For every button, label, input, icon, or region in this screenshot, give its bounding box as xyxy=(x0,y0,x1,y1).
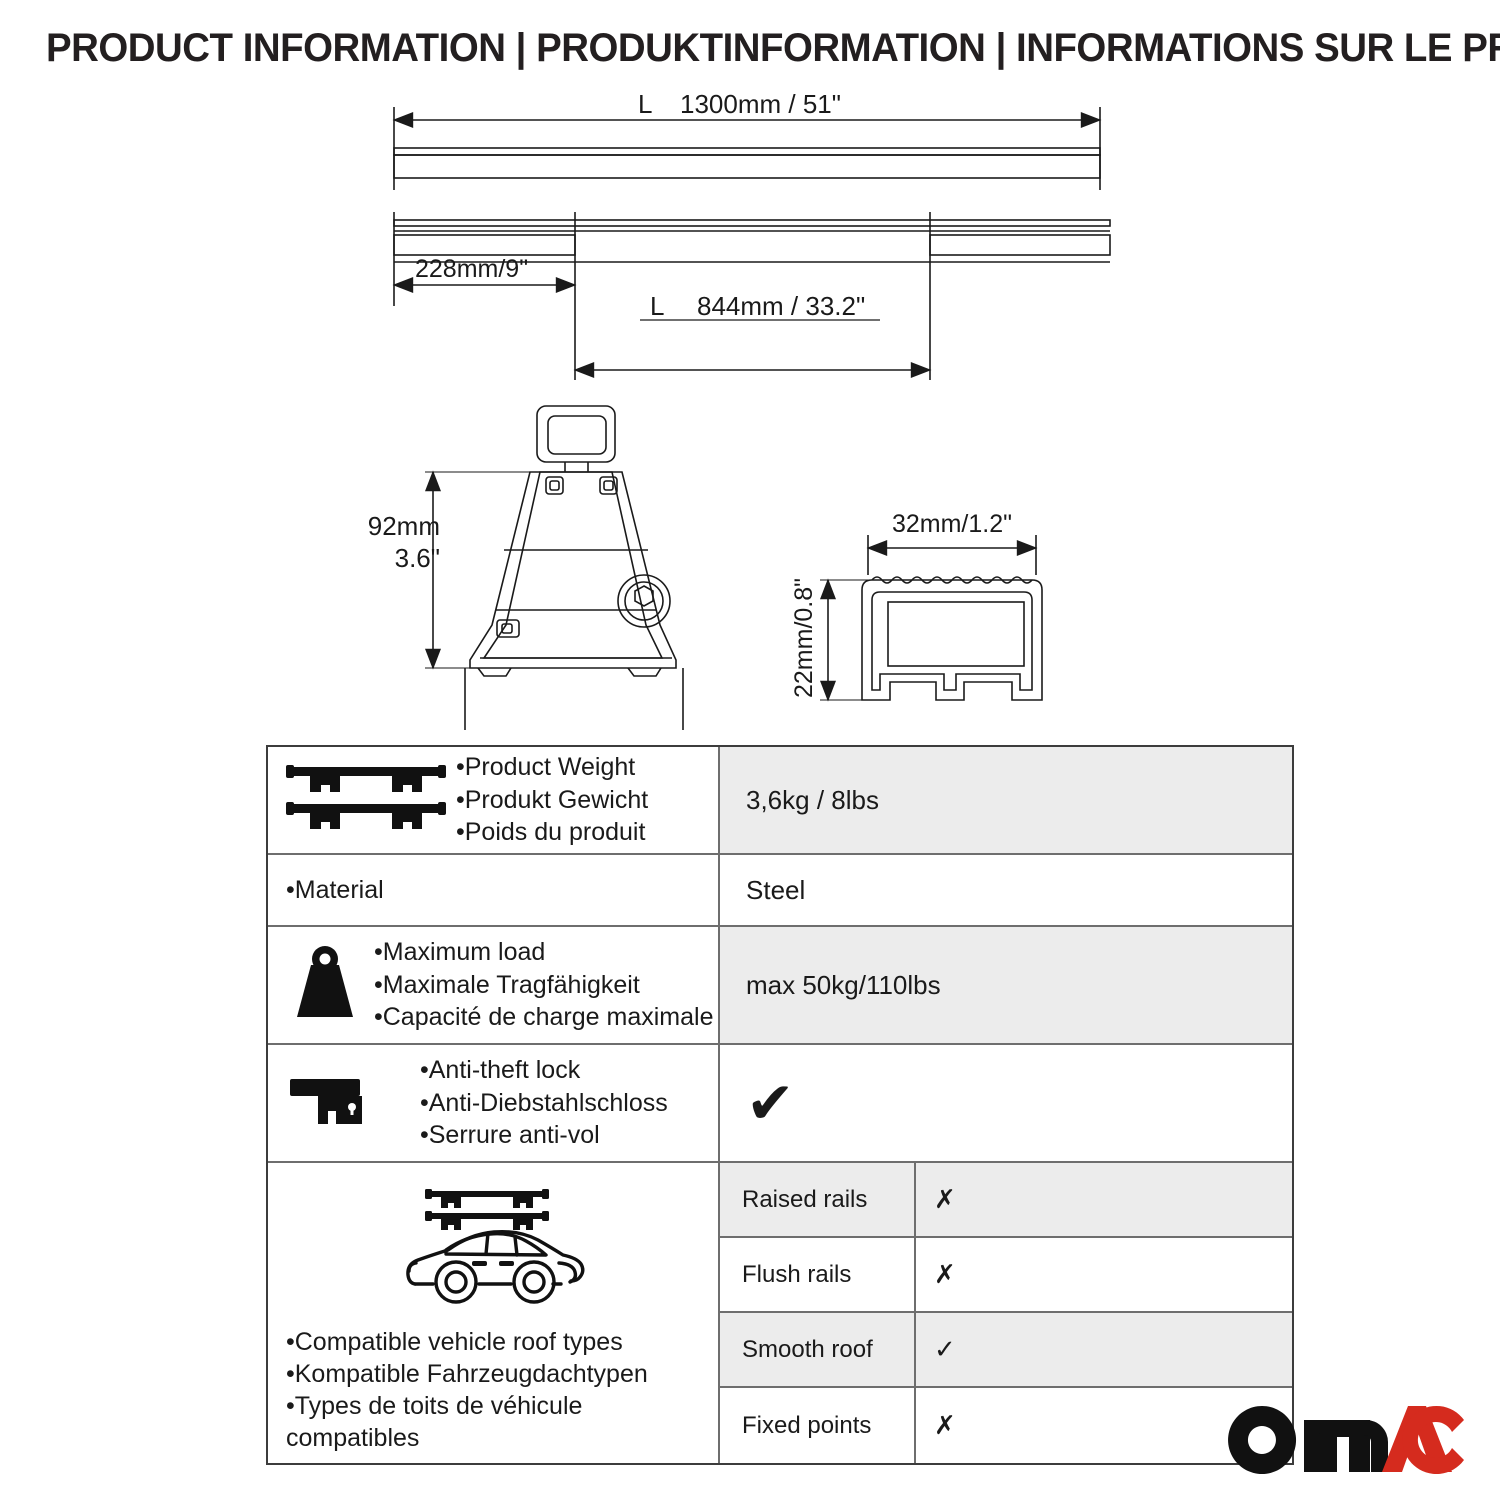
table-row: •Compatible vehicle roof types •Kompatib… xyxy=(268,1163,1292,1463)
foot-height-mm: 92mm xyxy=(368,511,440,541)
label-line: •Maximale Tragfähigkeit xyxy=(374,969,713,1002)
label-line: •Anti-Diebstahlschloss xyxy=(420,1087,668,1120)
roof-type-row: Fixed points ✗ xyxy=(720,1388,1292,1463)
label-line: •Product Weight xyxy=(456,751,648,784)
roof-types-subtable: Raised rails ✗ Flush rails ✗ Smooth roof… xyxy=(720,1163,1292,1463)
bar-length-value: 1300mm / 51" xyxy=(680,89,841,119)
label-line: •Poids du produit xyxy=(456,816,648,849)
lock-icon xyxy=(290,1071,376,1136)
row-label-cell: •Product Weight •Produkt Gewicht •Poids … xyxy=(268,747,720,853)
roof-type-name: Smooth roof xyxy=(720,1313,916,1386)
spec-table: •Product Weight •Produkt Gewicht •Poids … xyxy=(266,745,1294,1465)
label-line: •Maximum load xyxy=(374,936,713,969)
row-labels: •Maximum load •Maximale Tragfähigkeit •C… xyxy=(374,936,713,1034)
section-height-value: 22mm/0.8" xyxy=(790,578,818,698)
label-line: •Material xyxy=(286,874,384,907)
technical-drawing: L 1300mm / 51" 228mm/9" L 844mm / 33.2" … xyxy=(0,80,1500,730)
label-line: •Kompatible Fahrzeugdachtypen xyxy=(286,1358,648,1390)
end-offset-value: 228mm/9" xyxy=(415,255,528,283)
row-labels: •Anti-theft lock •Anti-Diebstahlschloss … xyxy=(420,1054,668,1152)
label-line: •Types de toits de véhicule xyxy=(286,1390,648,1422)
table-row: •Anti-theft lock •Anti-Diebstahlschloss … xyxy=(268,1045,1292,1163)
roof-type-value: ✗ xyxy=(916,1163,1292,1236)
omac-logo xyxy=(1228,1404,1468,1476)
bar-length-label: L xyxy=(638,89,652,119)
row-labels: •Compatible vehicle roof types •Kompatib… xyxy=(268,1326,648,1454)
product-information-page: PRODUCT INFORMATION | PRODUKTINFORMATION… xyxy=(0,0,1500,1500)
row-value-cell: 3,6kg / 8lbs xyxy=(720,747,1292,853)
roof-type-name: Fixed points xyxy=(720,1388,916,1463)
logo-red-part xyxy=(1382,1406,1464,1474)
check-mark: ✔ xyxy=(746,1074,795,1132)
car-with-rack-icon xyxy=(393,1181,593,1316)
roof-type-row: Raised rails ✗ xyxy=(720,1163,1292,1238)
row-labels: •Product Weight •Produkt Gewicht •Poids … xyxy=(456,751,648,849)
table-row: •Material Steel xyxy=(268,855,1292,927)
row-label-cell: •Compatible vehicle roof types •Kompatib… xyxy=(268,1163,720,1463)
span-label: L xyxy=(650,291,664,321)
roof-type-value: ✓ xyxy=(916,1313,1292,1386)
row-label-cell: •Material xyxy=(268,855,720,925)
label-line: •Serrure anti-vol xyxy=(420,1119,668,1152)
roof-type-row: Smooth roof ✓ xyxy=(720,1313,1292,1388)
row-labels: •Material xyxy=(286,874,384,907)
label-line: •Anti-theft lock xyxy=(420,1054,668,1087)
label-line: •Capacité de charge maximale xyxy=(374,1001,713,1034)
table-row: •Product Weight •Produkt Gewicht •Poids … xyxy=(268,747,1292,855)
drawing-svg: L 1300mm / 51" 228mm/9" L 844mm / 33.2" … xyxy=(0,80,1500,730)
row-value-cell: Steel xyxy=(720,855,1292,925)
foot-height-in: 3.6" xyxy=(395,543,440,573)
row-label-cell: •Anti-theft lock •Anti-Diebstahlschloss … xyxy=(268,1045,720,1161)
roof-type-name: Flush rails xyxy=(720,1238,916,1311)
roof-type-name: Raised rails xyxy=(720,1163,916,1236)
page-title: PRODUCT INFORMATION | PRODUKTINFORMATION… xyxy=(46,26,1409,71)
roof-type-row: Flush rails ✗ xyxy=(720,1238,1292,1313)
table-row: •Maximum load •Maximale Tragfähigkeit •C… xyxy=(268,927,1292,1045)
roof-type-value: ✗ xyxy=(916,1238,1292,1311)
weight-icon xyxy=(286,943,364,1028)
label-line: •Produkt Gewicht xyxy=(456,784,648,817)
section-width-value: 32mm/1.2" xyxy=(892,510,1012,538)
row-label-cell: •Maximum load •Maximale Tragfähigkeit •C… xyxy=(268,927,720,1043)
crossbars-icon xyxy=(286,761,446,840)
row-value-cell: max 50kg/110lbs xyxy=(720,927,1292,1043)
row-value-cell: ✔ xyxy=(720,1045,1292,1161)
logo-dark-part xyxy=(1228,1406,1388,1474)
span-value: 844mm / 33.2" xyxy=(697,291,865,321)
label-line: •Compatible vehicle roof types xyxy=(286,1326,648,1358)
label-line: compatibles xyxy=(286,1422,648,1454)
